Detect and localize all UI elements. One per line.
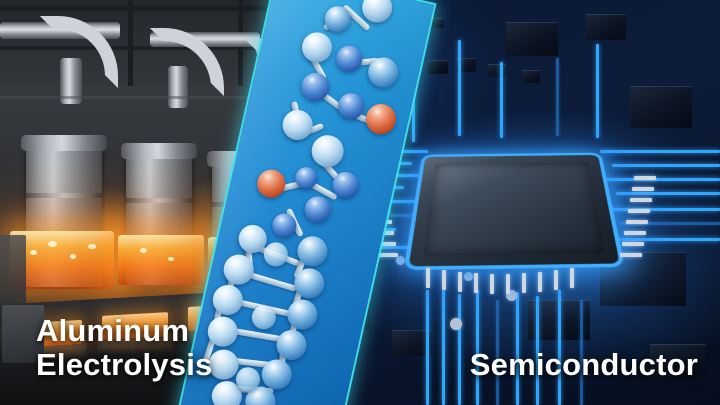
label-line-1: Semiconductor [470, 348, 698, 383]
chip-pin-row-right [594, 176, 658, 272]
pcb-via [450, 318, 462, 330]
duct-riser [168, 66, 188, 108]
smd-component [488, 64, 506, 77]
smd-component [336, 16, 362, 32]
pcb-trace [426, 290, 429, 405]
safety-railing [0, 96, 340, 99]
molten-bubble [140, 248, 147, 253]
smd-component [396, 30, 414, 42]
pcb-trace [442, 290, 445, 405]
label-line-1: Aluminum [36, 314, 212, 349]
molten-metal-bath [208, 237, 278, 281]
pcb-trace [600, 150, 720, 153]
pcb-trace [596, 44, 599, 138]
chip-pin-row-bottom [426, 258, 602, 298]
smd-component [312, 80, 376, 120]
duct-riser [260, 72, 278, 112]
molten-bubble [48, 241, 57, 247]
pcb-trace [500, 62, 503, 138]
smd-component [428, 60, 448, 74]
molten-bubble [70, 254, 76, 259]
chip-body [409, 155, 620, 266]
pcb-via [334, 344, 343, 353]
panel-semiconductor [300, 0, 720, 405]
smd-component [506, 22, 558, 56]
banner-stage: Aluminum Electrolysis Semiconductor [0, 0, 720, 405]
label-line-2: Electrolysis [36, 348, 212, 383]
ceiling-column [128, 0, 133, 86]
smd-component [630, 86, 692, 128]
chip-pin-row-left [362, 176, 426, 272]
pcb-trace [612, 164, 720, 167]
smd-component [586, 14, 626, 40]
ceiling-beam [0, 6, 340, 11]
chip-die-surface [423, 162, 604, 255]
pcb-trace [300, 150, 428, 153]
pcb-trace [300, 162, 412, 165]
molten-bubble [88, 244, 96, 249]
smd-component [430, 18, 444, 28]
control-cabinet [0, 235, 26, 305]
label-semiconductor: Semiconductor [470, 348, 698, 383]
pcb-trace [458, 294, 461, 405]
pcb-trace [556, 58, 559, 136]
pcb-trace [458, 40, 461, 136]
cpu-chip [409, 155, 620, 266]
label-aluminum-electrolysis: Aluminum Electrolysis [36, 314, 212, 383]
smd-component [522, 70, 540, 83]
pcb-trace [412, 56, 415, 142]
molten-bubble [30, 250, 37, 255]
molten-bubble [168, 257, 174, 261]
smd-component [318, 296, 370, 330]
molten-metal-bath [118, 235, 204, 285]
